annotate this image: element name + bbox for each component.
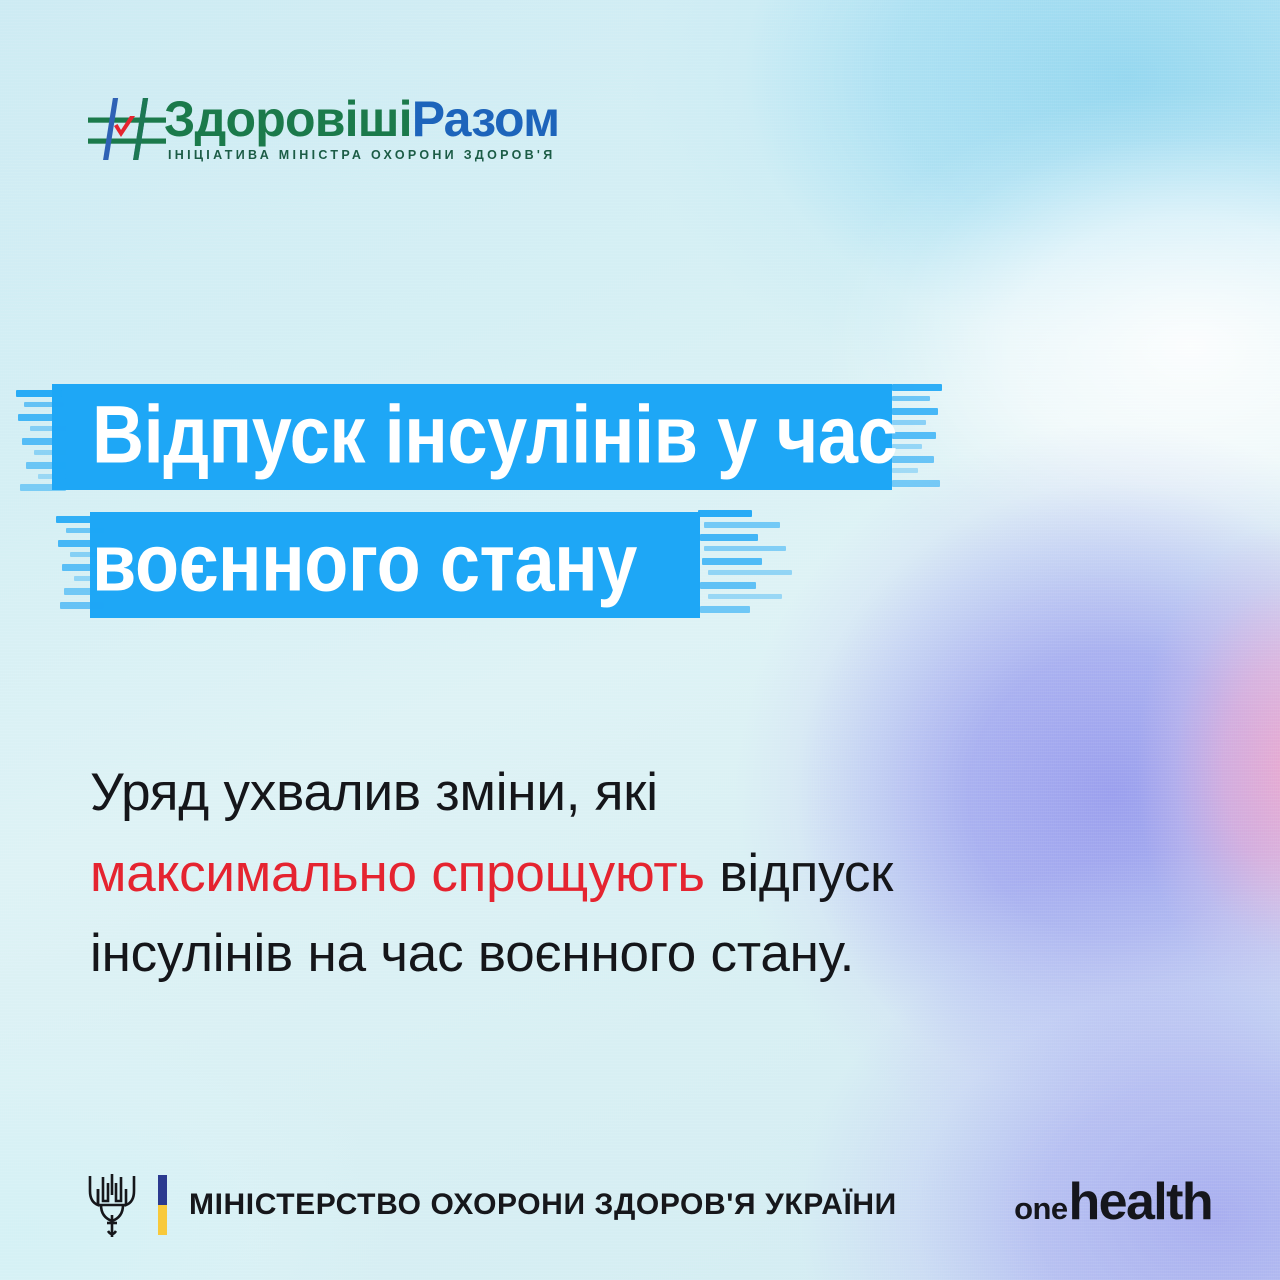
background-lavender-blob bbox=[0, 0, 1280, 1280]
poster-canvas: ЗдоровішіРазом ІНІЦІАТИВА МІНІСТРА ОХОРО… bbox=[0, 0, 1280, 1280]
ukraine-flag-bar bbox=[158, 1175, 167, 1235]
background-purple-blob bbox=[0, 0, 1280, 1280]
onehealth-name: health bbox=[1068, 1172, 1212, 1232]
onehealth-prefix: one bbox=[1014, 1191, 1067, 1227]
campaign-logo-word-blue: Разом bbox=[412, 91, 560, 147]
ministry-logo: МІНІСТЕРСТВО ОХОРОНИ ЗДОРОВ'Я УКРАЇНИ bbox=[86, 1168, 897, 1242]
background-cyan-corner bbox=[0, 0, 1280, 1280]
body-text-part-1: Уряд ухвалив зміни, які bbox=[90, 763, 658, 822]
headline-line-1: Відпуск інсулінів у час bbox=[0, 378, 1000, 496]
body-text-highlight: максимально спрощують bbox=[90, 844, 705, 903]
background-white-highlight bbox=[0, 0, 1280, 1280]
campaign-logo-tagline: ІНІЦІАТИВА МІНІСТРА ОХОРОНИ ЗДОРОВ'Я bbox=[168, 148, 555, 162]
background-pink-blob bbox=[0, 0, 1280, 1280]
brush-bristles-right-2 bbox=[696, 506, 752, 624]
brush-bristles-left bbox=[14, 378, 70, 496]
campaign-logo-wordmark: ЗдоровішіРазом bbox=[164, 94, 559, 144]
ukraine-trident-icon bbox=[86, 1171, 138, 1239]
headline-text-line-1: Відпуск інсулінів у час bbox=[92, 394, 897, 476]
headline-text-line-2: воєнного стану bbox=[92, 522, 637, 604]
background-blue-glow bbox=[0, 0, 1280, 1280]
onehealth-logo: one health bbox=[1014, 1172, 1212, 1232]
ministry-name: МІНІСТЕРСТВО ОХОРОНИ ЗДОРОВ'Я УКРАЇНИ bbox=[189, 1188, 897, 1222]
hashtag-icon bbox=[88, 98, 166, 160]
body-paragraph: Уряд ухвалив зміни, які максимально спро… bbox=[90, 753, 990, 995]
campaign-logo-word-green: Здоровіші bbox=[164, 91, 412, 147]
background-grain-texture bbox=[0, 0, 1280, 1280]
headline-line-2: воєнного стану bbox=[0, 506, 1000, 624]
headline-block: Відпуск інсулінів у час bbox=[0, 378, 1000, 624]
background-base bbox=[0, 0, 1280, 1280]
campaign-logo: ЗдоровішіРазом ІНІЦІАТИВА МІНІСТРА ОХОРО… bbox=[88, 98, 608, 176]
